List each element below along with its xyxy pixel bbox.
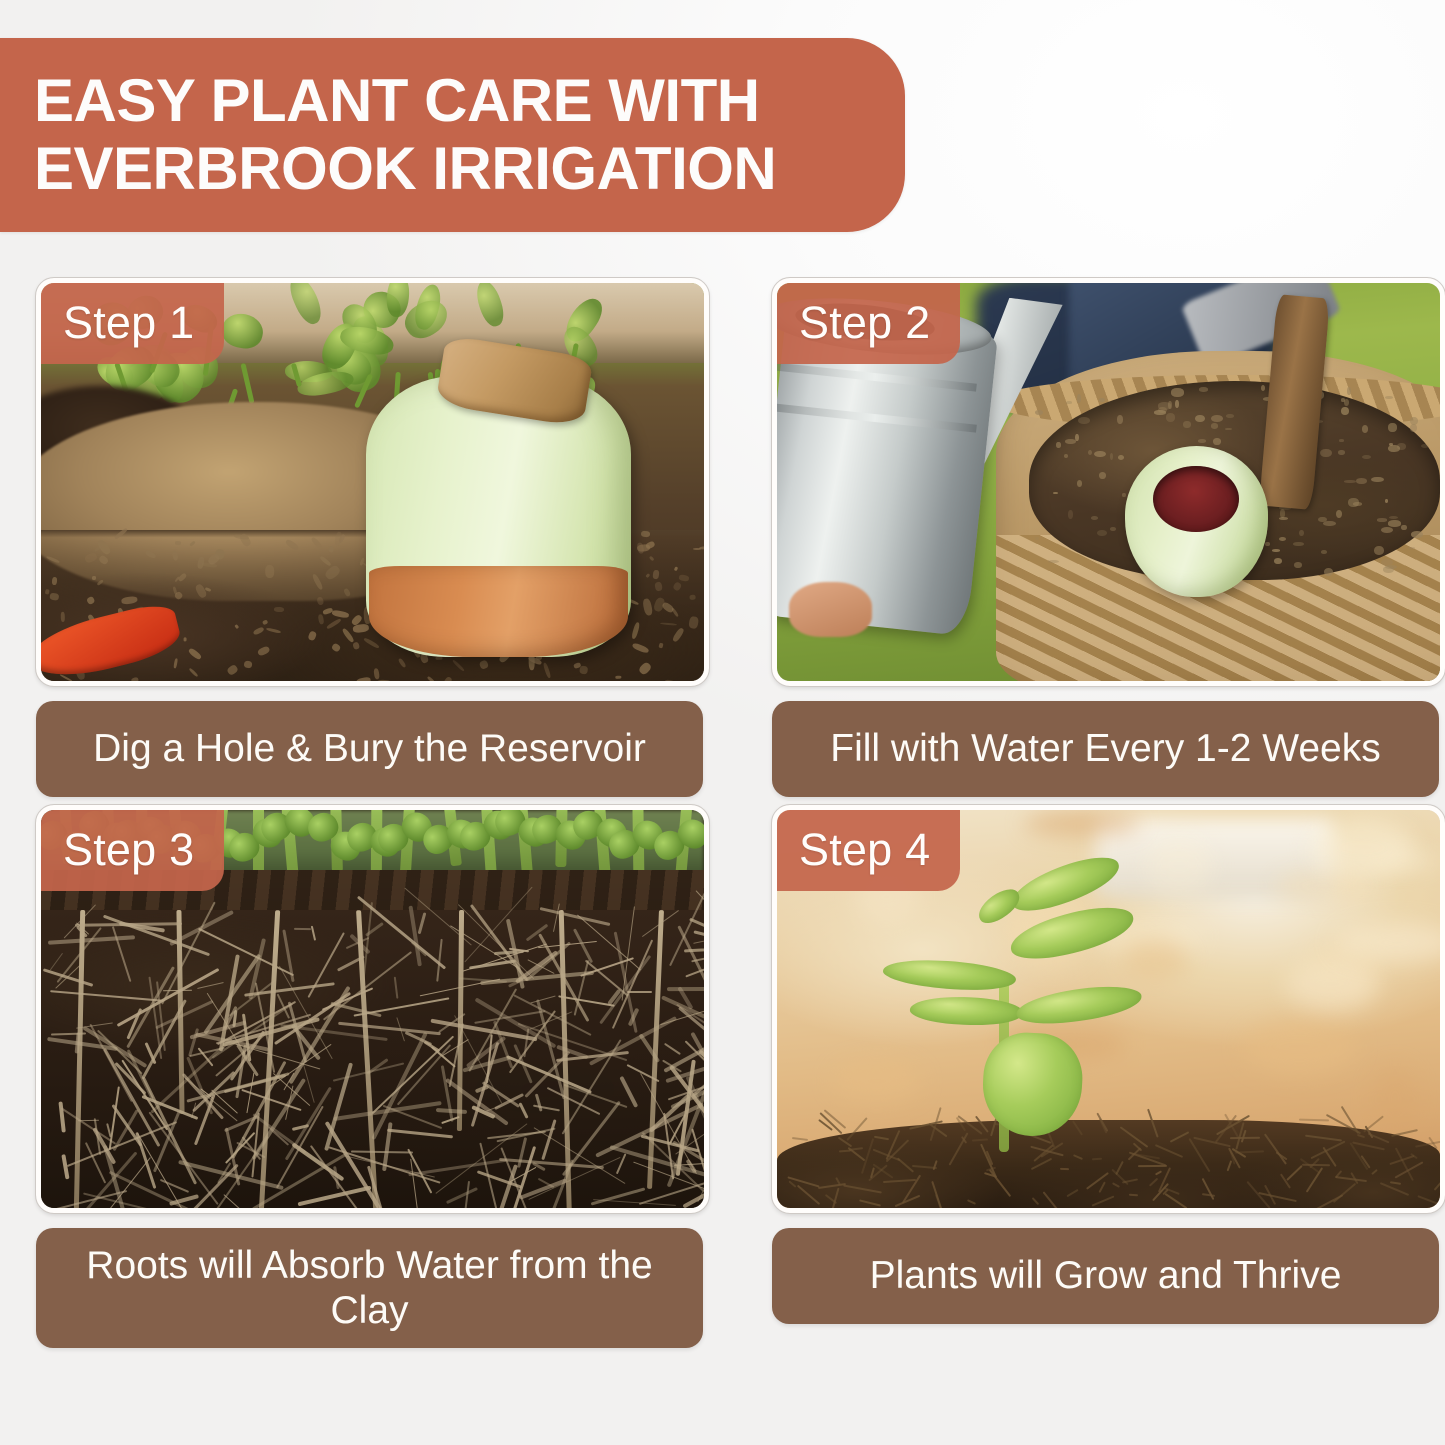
step-3-caption: Roots will Absorb Water from the Clay (36, 1228, 703, 1348)
step-4-caption: Plants will Grow and Thrive (772, 1228, 1439, 1324)
olla-reservoir (366, 355, 631, 657)
step-1-caption: Dig a Hole & Bury the Reservoir (36, 701, 703, 797)
gardener-hand (789, 582, 872, 637)
step-cell-2: Step 2 Fill with Water Every 1-2 Weeks (772, 278, 1445, 797)
olla-terracotta-base (369, 566, 629, 657)
step-2-photo-card: Step 2 (772, 278, 1445, 686)
olla-in-pot (1125, 446, 1268, 597)
header-title-line-2: EVERBROOK IRRIGATION (34, 135, 905, 203)
step-3-photo-card: Step 3 (36, 805, 709, 1213)
olla-opening (1153, 466, 1239, 532)
steps-grid: Step 1 Dig a Hole & Bury the Reservoir (0, 278, 1445, 1348)
header-title-line-1: EASY PLANT CARE WITH (34, 67, 905, 135)
step-1-badge: Step 1 (41, 283, 224, 364)
step-4-photo-card: Step 4 (772, 805, 1445, 1213)
step-cell-3: Step 3 Roots will Absorb Water from the … (36, 805, 709, 1348)
step-2-badge: Step 2 (777, 283, 960, 364)
header-banner: EASY PLANT CARE WITH EVERBROOK IRRIGATIO… (0, 38, 905, 232)
step-3-badge: Step 3 (41, 810, 224, 891)
step-cell-4: Step 4 Plants will Grow and Thrive (772, 805, 1445, 1348)
step-4-badge: Step 4 (777, 810, 960, 891)
step-2-caption: Fill with Water Every 1-2 Weeks (772, 701, 1439, 797)
step-cell-1: Step 1 Dig a Hole & Bury the Reservoir (36, 278, 709, 797)
step-1-photo-card: Step 1 (36, 278, 709, 686)
